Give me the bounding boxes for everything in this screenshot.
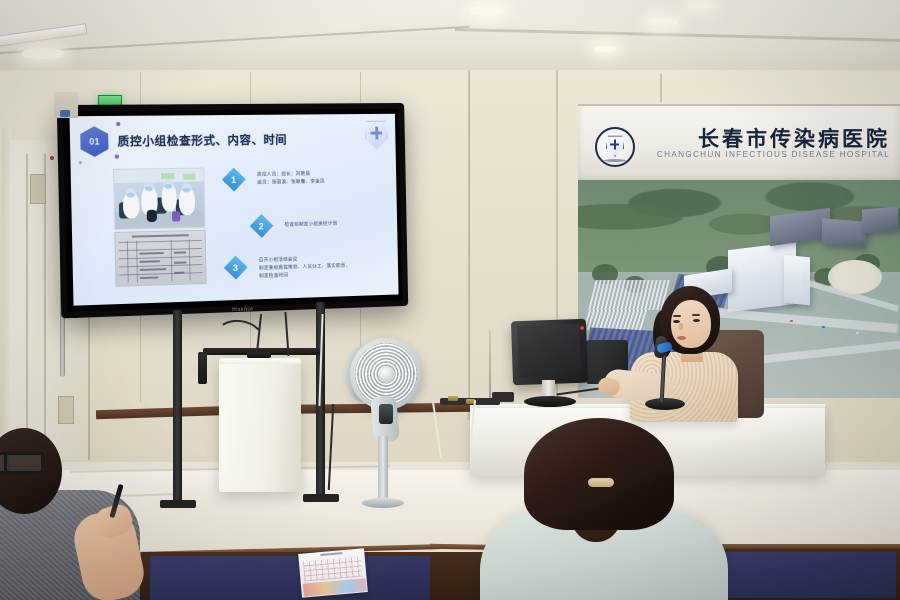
mural-car xyxy=(790,320,793,322)
purifier-top-panel xyxy=(219,358,301,364)
attendee-left-glasses xyxy=(4,452,44,474)
attendee-center-hair xyxy=(524,418,674,530)
embedded-table-cell-text xyxy=(140,268,166,270)
floor-sheen xyxy=(0,470,900,510)
slide-section-number: 01 xyxy=(89,136,100,146)
monitor-screen xyxy=(517,324,581,378)
slide-section-badge: 01 xyxy=(80,126,109,157)
hospital-shield-icon xyxy=(606,136,624,157)
wall-seam-3 xyxy=(660,74,662,102)
slide-dot-2 xyxy=(115,155,119,159)
embedded-table-cell-text xyxy=(174,261,186,263)
embedded-table-colline xyxy=(127,241,129,283)
presenter-nose xyxy=(679,323,683,330)
embedded-table-colline xyxy=(171,240,173,281)
audience-desk-pad-far xyxy=(700,552,896,598)
fan-hub xyxy=(378,366,395,383)
slide-bullet-2-number: 2 xyxy=(259,221,264,231)
mural-car xyxy=(822,326,825,328)
tv-stand-left-leg xyxy=(173,310,182,506)
monitor-power-led xyxy=(580,326,584,330)
air-purifier[interactable] xyxy=(219,358,301,492)
photo-bin xyxy=(172,211,180,221)
slide-bullet-3-number: 3 xyxy=(233,262,238,272)
slide-bullet-1-number: 1 xyxy=(231,174,236,184)
presenter-eye-right xyxy=(693,319,700,322)
tv-stand-right-foot xyxy=(303,494,339,502)
embedded-table-cell-text xyxy=(174,272,184,274)
fan-control-panel[interactable] xyxy=(379,404,393,424)
embedded-table-cell-text xyxy=(139,252,163,254)
slide-embedded-table xyxy=(114,230,206,287)
slide-bullet-1-line-1: 质控人员：组长：刘艳丽 xyxy=(257,171,310,178)
audience-desk-pad xyxy=(150,556,430,600)
tv-screen: 01 质控小组检查形式、内容、时间 xyxy=(69,114,398,306)
embedded-table-title xyxy=(132,234,189,237)
purifier-port xyxy=(60,110,70,117)
slide-bullet-3-line-3: 制定检查时间 xyxy=(259,272,288,279)
presentation-television[interactable]: 01 质控小组检查形式、内容、时间 xyxy=(57,103,408,318)
hospital-signboard: 长春市传染病医院 CHANGCHUN INFECTIOUS DISEASE HO… xyxy=(578,104,900,182)
antenna-rod xyxy=(489,330,491,402)
slide-bullet-1-line-2: 组员：张丽波、张颖馨、李金凤 xyxy=(257,179,325,186)
door-indicator-dot xyxy=(50,156,54,160)
hospital-logo-arc xyxy=(604,159,626,162)
photo-bag xyxy=(147,210,157,222)
mural-parking-lot xyxy=(588,280,669,310)
slide-bullet-2-marker: 2 xyxy=(250,214,274,238)
door-seam-left xyxy=(26,154,28,446)
ceiling-downlight-5 xyxy=(594,46,616,52)
ceiling-downlight xyxy=(22,48,64,59)
presenter-face xyxy=(671,300,711,348)
embedded-table-colline xyxy=(136,241,138,283)
presenter-brow-right xyxy=(692,314,700,316)
slide-embedded-photo xyxy=(113,167,206,229)
ceiling-downlight-4 xyxy=(688,2,714,9)
photo-staff-4-mask xyxy=(183,188,190,192)
hospital-logo-icon xyxy=(595,127,635,167)
printed-handout[interactable] xyxy=(298,548,368,598)
tv-stand-left-foot xyxy=(160,500,196,508)
slide-bullet-3-line-1: 召开小组活动会议 xyxy=(259,256,298,263)
fan-base xyxy=(362,498,404,508)
ceiling-downlight-2 xyxy=(470,6,504,15)
tv-stand-shelf-brace xyxy=(198,352,207,384)
presenter-brow-left xyxy=(673,315,681,317)
monitor-base xyxy=(524,396,576,407)
tv-brand-label: Hisense xyxy=(232,306,253,313)
hospital-name-en: CHANGCHUN INFECTIOUS DISEASE HOSPITAL xyxy=(657,150,890,159)
fan-pole xyxy=(378,436,388,506)
photo-scene: 01 质控小组检查形式、内容、时间 xyxy=(0,0,900,600)
handout-grid xyxy=(303,557,363,582)
desk-connector xyxy=(448,396,458,401)
mural-annex-2 xyxy=(822,218,866,248)
attendee-center-hair-tie xyxy=(588,478,614,487)
mural-car xyxy=(856,332,859,334)
hospital-name-cn: 长春市传染病医院 xyxy=(698,123,890,153)
door-plate-upper xyxy=(30,174,46,204)
photo-staff-2-mask xyxy=(145,187,152,191)
microphone-base xyxy=(645,398,685,410)
handout-header xyxy=(320,552,342,556)
slide-dot-1 xyxy=(116,122,120,126)
photo-staff-3-mask xyxy=(164,184,171,188)
slide-bullet-2-line-1: 检查前制定小组质控计划 xyxy=(285,221,338,228)
photo-staff-1-mask xyxy=(127,193,134,197)
embedded-table-cell-text xyxy=(140,260,160,262)
slide-dot-3 xyxy=(79,161,82,164)
embedded-table-cell-text xyxy=(174,251,186,253)
embedded-table-cell-text xyxy=(140,276,158,278)
ceiling-downlight-3 xyxy=(648,18,678,26)
photo-green-sign-2 xyxy=(183,174,195,180)
slide-bullet-1-marker: 1 xyxy=(222,168,246,192)
slide-corner-logo-icon xyxy=(365,121,388,150)
mural-annex-3 xyxy=(862,206,898,233)
remote-control[interactable] xyxy=(247,352,271,358)
desk-device xyxy=(492,392,514,402)
presenter-mouth xyxy=(677,336,686,340)
slide-bullet-3-marker: 3 xyxy=(224,256,248,280)
slide-title: 质控小组检查形式、内容、时间 xyxy=(117,131,287,149)
wall-seam-1 xyxy=(468,70,470,420)
door-plate-lower xyxy=(58,396,74,424)
embedded-table-colline xyxy=(189,239,191,280)
slide-bullet-3-line-2: 制定重组质控策划、人员分工、落实职责、 xyxy=(259,263,350,272)
